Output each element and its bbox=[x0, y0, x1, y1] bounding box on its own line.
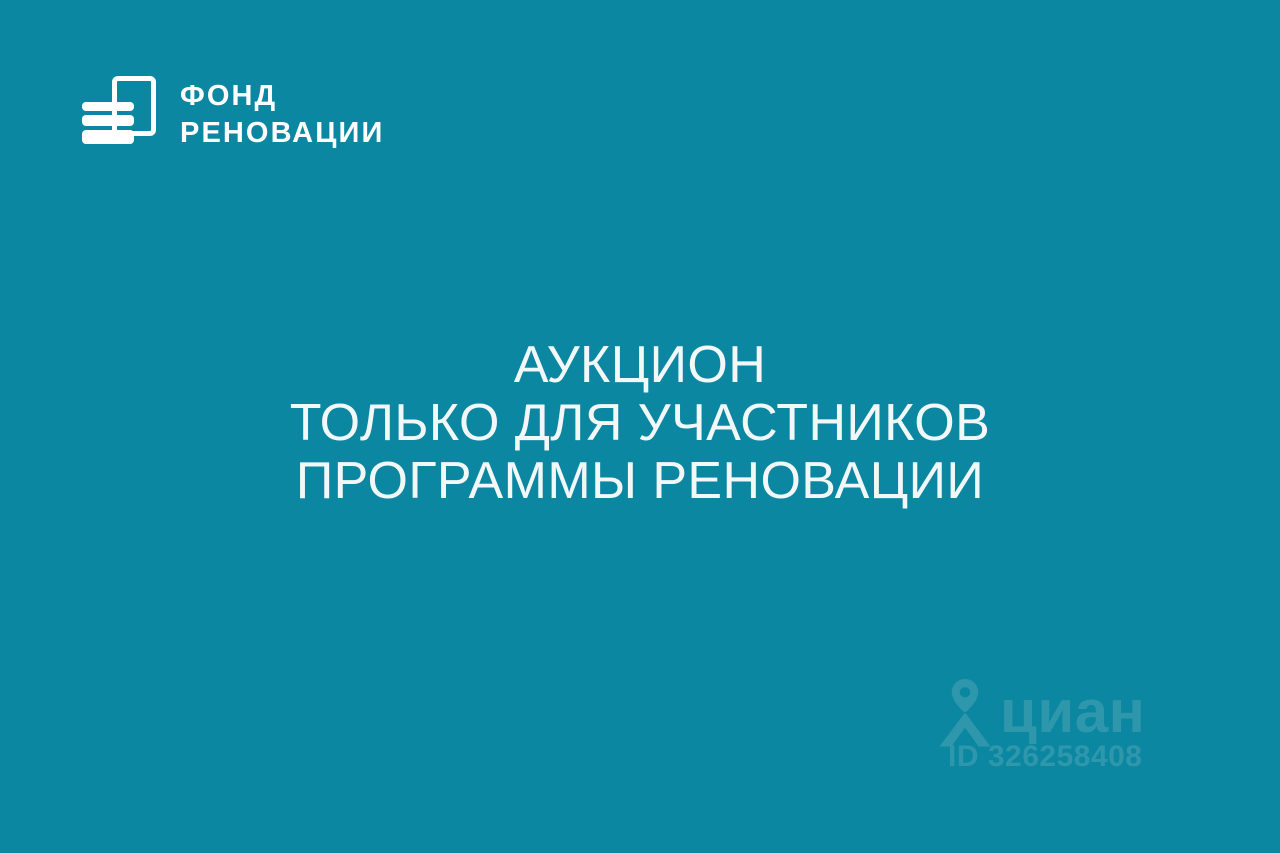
cian-brand-text: циан bbox=[1000, 682, 1145, 742]
brand-wordmark: ФОНД РЕНОВАЦИИ bbox=[180, 78, 384, 152]
headline-line-3: ПРОГРАММЫ РЕНОВАЦИИ bbox=[0, 452, 1280, 510]
cian-map-pin-icon bbox=[928, 676, 1002, 748]
headline: АУКЦИОН ТОЛЬКО ДЛЯ УЧАСТНИКОВ ПРОГРАММЫ … bbox=[0, 336, 1280, 510]
document-bar-3 bbox=[82, 130, 134, 144]
brand-lockup: ФОНД РЕНОВАЦИИ bbox=[82, 74, 384, 156]
document-bar-2 bbox=[82, 115, 134, 126]
cian-logo: циан bbox=[928, 676, 1158, 748]
promo-banner: ФОНД РЕНОВАЦИИ АУКЦИОН ТОЛЬКО ДЛЯ УЧАСТН… bbox=[0, 0, 1280, 853]
headline-line-1: АУКЦИОН bbox=[0, 336, 1280, 394]
headline-line-2: ТОЛЬКО ДЛЯ УЧАСТНИКОВ bbox=[0, 394, 1280, 452]
listing-id: ID 326258408 bbox=[948, 741, 1143, 773]
cian-watermark: циан ID 326258408 bbox=[928, 676, 1158, 776]
brand-wordmark-line-1: ФОНД bbox=[180, 78, 384, 115]
document-bar-1 bbox=[82, 102, 134, 111]
brand-wordmark-line-2: РЕНОВАЦИИ bbox=[180, 115, 384, 152]
stacked-documents-icon bbox=[82, 74, 158, 156]
